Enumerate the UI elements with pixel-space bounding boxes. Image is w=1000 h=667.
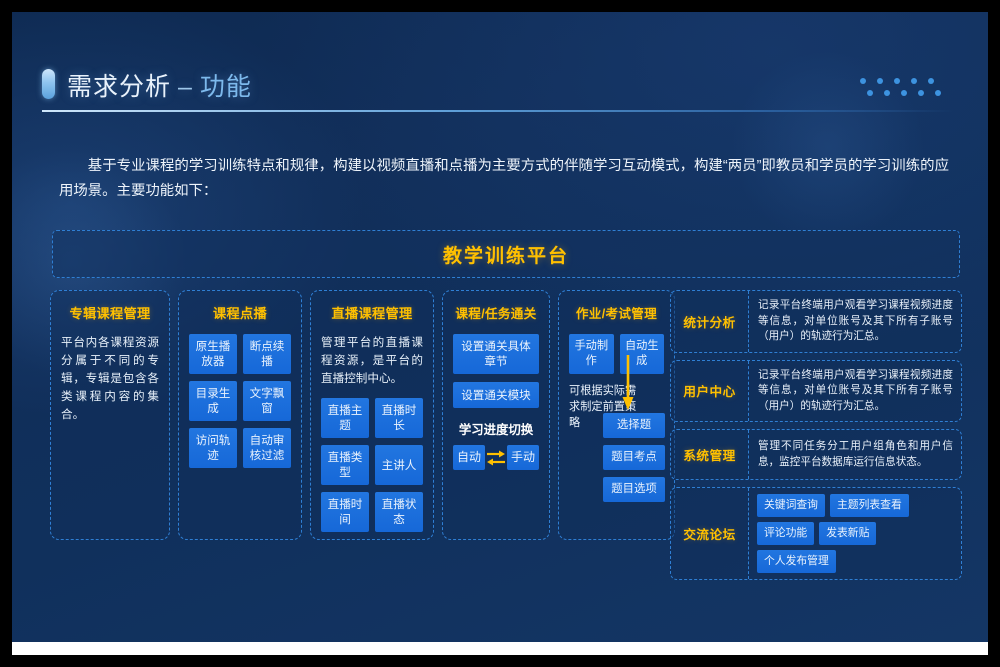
page-title-sub: 功能	[200, 73, 252, 101]
down-arrow-icon	[621, 355, 635, 411]
feature-button[interactable]: 设置通关具体章节	[453, 334, 539, 374]
feature-button[interactable]: 断点续播	[243, 334, 291, 374]
feature-button[interactable]: 直播状态	[375, 492, 423, 532]
feature-button[interactable]: 直播类型	[321, 445, 369, 485]
right-row-system-management: 系统管理 管理不同任务分工用户组角色和用户信息，监控平台数据库运行信息状态。	[670, 429, 962, 480]
forum-button-group: 关键词查询 主题列表查看 评论功能 发表新贴 个人发布管理	[749, 488, 961, 579]
column-description: 平台内各课程资源分属于不同的专辑，专辑是包含各类课程内容的集合。	[61, 334, 159, 424]
feature-button-stack: 设置通关具体章节 设置通关模块	[453, 334, 539, 408]
module-columns: 专辑课程管理 平台内各课程资源分属于不同的专辑，专辑是包含各类课程内容的集合。 …	[50, 290, 675, 540]
exam-mode-buttons: 手动制作 自动生成	[569, 334, 664, 374]
column-title: 直播课程管理	[321, 303, 423, 322]
feature-button[interactable]: 文字飘窗	[243, 381, 291, 421]
toggle-manual-button[interactable]: 手动	[507, 445, 539, 470]
right-row-description: 记录平台终端用户观看学习课程视频进度等信息，对单位账号及其下所有子账号（用户）的…	[749, 361, 961, 422]
forum-button[interactable]: 个人发布管理	[757, 550, 836, 573]
right-row-label: 用户中心	[671, 361, 749, 422]
feature-button[interactable]: 直播时长	[375, 398, 423, 438]
intro-paragraph-text: 基于专业课程的学习训练特点和规律，构建以视频直播和点播为主要方式的伴随学习互动模…	[59, 154, 949, 204]
platform-banner: 教学训练平台	[52, 230, 960, 278]
feature-button[interactable]: 自动审核过滤	[243, 428, 291, 468]
right-row-description: 管理不同任务分工用户组角色和用户信息，监控平台数据库运行信息状态。	[749, 430, 961, 479]
feature-button[interactable]: 主讲人	[375, 445, 423, 485]
feature-button-grid: 直播主题 直播时长 直播类型 主讲人 直播时间 直播状态	[321, 398, 423, 532]
module-column-live-course: 直播课程管理 管理平台的直播课程资源，是平台的直播控制中心。 直播主题 直播时长…	[310, 290, 434, 540]
diagram-body: 专辑课程管理 平台内各课程资源分属于不同的专辑，专辑是包含各类课程内容的集合。 …	[50, 290, 962, 540]
forum-button[interactable]: 主题列表查看	[830, 494, 909, 517]
slide-header: 需求分析–功能	[12, 12, 988, 112]
feature-button[interactable]: 目录生成	[189, 381, 237, 421]
toggle-auto-button[interactable]: 自动	[453, 445, 485, 470]
feature-button[interactable]: 原生播放器	[189, 334, 237, 374]
slide-canvas: 需求分析–功能 基于专业课程的学习训练特点和规律，构建以视频直播和点播为主要方式…	[12, 12, 988, 655]
title-pill-icon	[42, 69, 55, 99]
module-column-album-course: 专辑课程管理 平台内各课程资源分属于不同的专辑，专辑是包含各类课程内容的集合。	[50, 290, 170, 540]
module-column-task-clearance: 课程/任务通关 设置通关具体章节 设置通关模块 学习进度切换 自动	[442, 290, 550, 540]
feature-button[interactable]: 题目选项	[603, 477, 665, 502]
right-row-user-center: 用户中心 记录平台终端用户观看学习课程视频进度等信息，对单位账号及其下所有子账号…	[670, 360, 962, 423]
column-description: 管理平台的直播课程资源，是平台的直播控制中心。	[321, 334, 423, 388]
title-divider	[42, 110, 954, 112]
manual-create-button[interactable]: 手动制作	[569, 334, 614, 374]
right-row-forum: 交流论坛 关键词查询 主题列表查看 评论功能 发表新贴 个人发布管理	[670, 487, 962, 580]
page-title-dash: –	[178, 73, 193, 101]
column-title: 课程点播	[189, 303, 291, 322]
question-type-list: 选择题 题目考点 题目选项	[603, 413, 665, 502]
right-row-label: 交流论坛	[671, 488, 749, 579]
forum-button[interactable]: 发表新贴	[819, 522, 876, 545]
module-column-exam: 作业/考试管理 手动制作 自动生成 可根据实际需求制定前置策略 选择题	[558, 290, 675, 540]
progress-toggle-label: 学习进度切换	[453, 420, 539, 438]
platform-banner-title: 教学训练平台	[443, 241, 569, 268]
page-title: 需求分析–功能	[67, 67, 252, 103]
right-row-description: 记录平台终端用户观看学习课程视频进度等信息，对单位账号及其下所有子账号（用户）的…	[749, 291, 961, 352]
forum-button[interactable]: 评论功能	[757, 522, 814, 545]
page-title-main: 需求分析	[67, 73, 171, 101]
feature-button[interactable]: 选择题	[603, 413, 665, 438]
forum-button[interactable]: 关键词查询	[757, 494, 825, 517]
slide-frame: 需求分析–功能 基于专业课程的学习训练特点和规律，构建以视频直播和点播为主要方式…	[0, 0, 1000, 667]
module-column-course-vod: 课程点播 原生播放器 断点续播 目录生成 文字飘窗 访问轨迹 自动审核过滤	[178, 290, 302, 540]
feature-button[interactable]: 直播时间	[321, 492, 369, 532]
progress-toggle-row: 自动 手动	[453, 445, 539, 470]
column-title: 作业/考试管理	[569, 303, 664, 322]
right-row-label: 系统管理	[671, 430, 749, 479]
column-title: 专辑课程管理	[61, 303, 159, 322]
feature-button[interactable]: 题目考点	[603, 445, 665, 470]
right-row-statistics: 统计分析 记录平台终端用户观看学习课程视频进度等信息，对单位账号及其下所有子账号…	[670, 290, 962, 353]
feature-button[interactable]: 设置通关模块	[453, 382, 539, 408]
swap-arrows-icon	[485, 447, 507, 469]
right-row-label: 统计分析	[671, 291, 749, 352]
feature-button[interactable]: 访问轨迹	[189, 428, 237, 468]
feature-button-grid: 原生播放器 断点续播 目录生成 文字飘窗 访问轨迹 自动审核过滤	[189, 334, 291, 468]
decorative-dots	[860, 78, 956, 102]
column-title: 课程/任务通关	[453, 303, 539, 322]
intro-paragraph: 基于专业课程的学习训练特点和规律，构建以视频直播和点播为主要方式的伴随学习互动模…	[59, 154, 949, 204]
feature-button[interactable]: 直播主题	[321, 398, 369, 438]
right-modules-panel: 统计分析 记录平台终端用户观看学习课程视频进度等信息，对单位账号及其下所有子账号…	[670, 290, 962, 587]
